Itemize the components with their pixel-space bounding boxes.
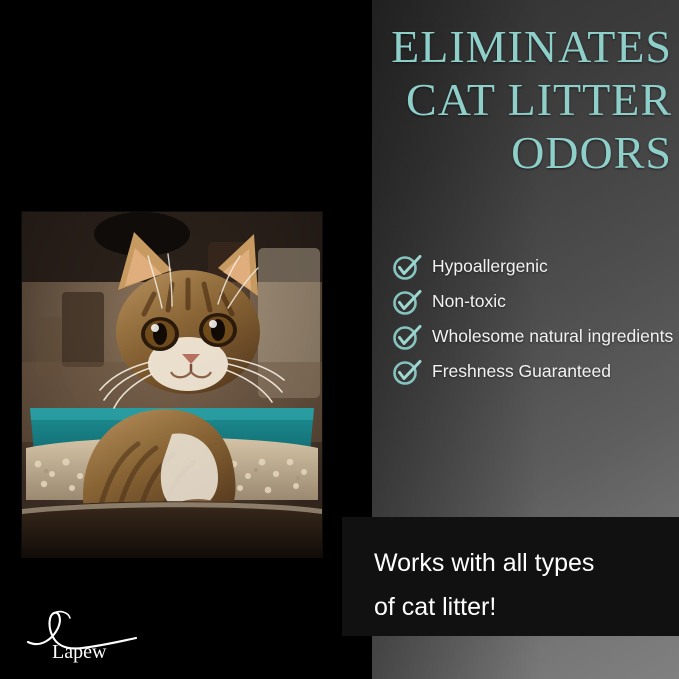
check-circle-icon <box>392 288 422 316</box>
kitten-photo <box>22 212 322 557</box>
headline-line-3: ODORS <box>300 126 672 179</box>
feature-item: Non-toxic <box>392 287 677 316</box>
caption-text: Works with all types of cat litter! <box>374 541 664 629</box>
brand-logo: Lapew <box>26 606 146 664</box>
check-circle-icon <box>392 358 422 386</box>
headline-line-1: ELIMINATES <box>300 20 672 73</box>
brand-name: Lapew <box>52 641 107 663</box>
check-circle-icon <box>392 253 422 281</box>
caption-line-1: Works with all types <box>374 541 664 585</box>
feature-item: Hypoallergenic <box>392 252 677 281</box>
caption-line-2: of cat litter! <box>374 585 664 629</box>
feature-item: Freshness Guaranteed <box>392 357 677 386</box>
feature-label: Hypoallergenic <box>432 252 548 280</box>
feature-label: Non-toxic <box>432 287 506 315</box>
headline: ELIMINATES CAT LITTER ODORS <box>300 20 672 179</box>
feature-label: Freshness Guaranteed <box>432 357 611 385</box>
caption-box: Works with all types of cat litter! <box>342 517 679 636</box>
feature-item: Wholesome natural ingredients <box>392 322 677 351</box>
feature-list: Hypoallergenic Non-toxic Wholesome natur… <box>392 252 677 392</box>
product-advertisement: ELIMINATES CAT LITTER ODORS Hypoallergen… <box>0 0 679 679</box>
headline-line-2: CAT LITTER <box>300 73 672 126</box>
check-circle-icon <box>392 323 422 351</box>
feature-label: Wholesome natural ingredients <box>432 322 673 350</box>
